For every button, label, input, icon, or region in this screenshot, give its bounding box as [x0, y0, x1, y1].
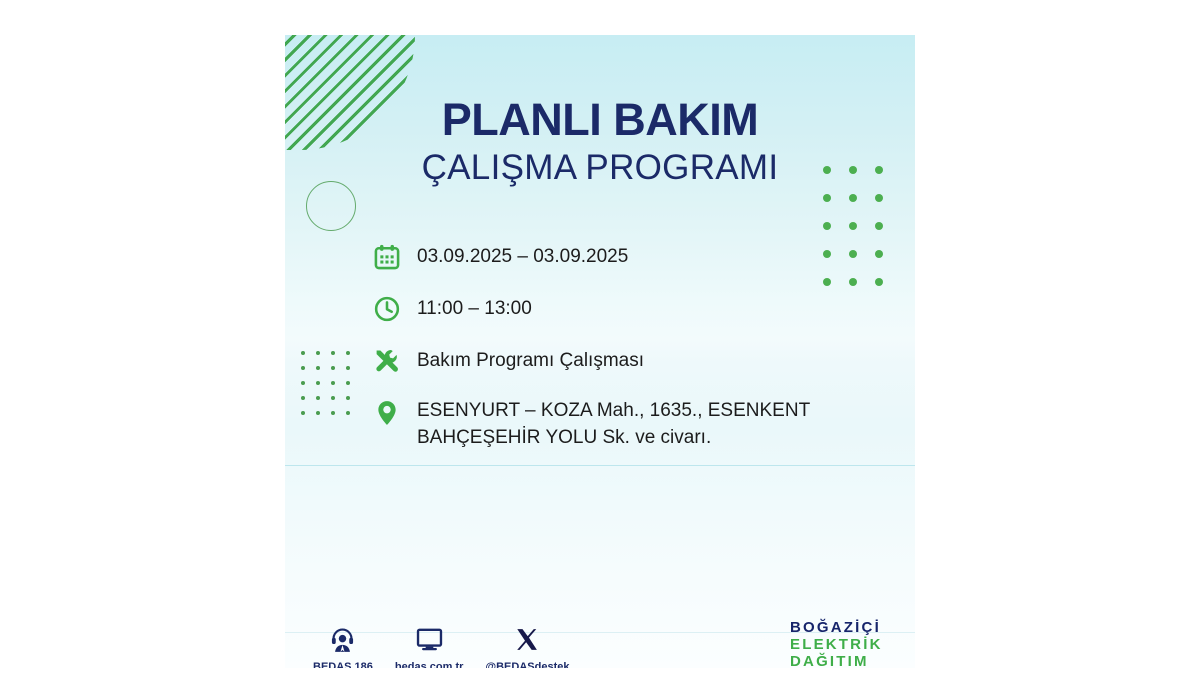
dot	[331, 381, 335, 385]
contact-website[interactable]: bedas.com.tr	[395, 623, 463, 668]
headset-support-icon	[329, 623, 356, 655]
dot	[346, 381, 350, 385]
dot	[331, 411, 335, 415]
dot	[316, 411, 320, 415]
detail-row-address: ESENYURT – KOZA Mah., 1635., ESENKENT BA…	[373, 396, 903, 452]
dot	[346, 396, 350, 400]
outage-details-list: 03.09.2025 – 03.09.2025 11:00 – 13:00 Ba…	[373, 240, 903, 470]
dot-grid-decoration-left	[301, 351, 361, 426]
dot	[346, 366, 350, 370]
detail-row-time: 11:00 – 13:00	[373, 292, 903, 326]
dot	[301, 351, 305, 355]
logo-line-bogazici: BOĞAZİÇİ	[790, 620, 910, 637]
title-main: PLANLI BAKIM	[285, 97, 915, 142]
dot	[331, 396, 335, 400]
work-type-value: Bakım Programı Çalışması	[417, 344, 644, 375]
x-social-icon	[515, 623, 540, 655]
contact-website-label: bedas.com.tr	[395, 661, 463, 668]
dot	[875, 194, 883, 202]
dot	[301, 396, 305, 400]
detail-row-date: 03.09.2025 – 03.09.2025	[373, 240, 903, 274]
contact-phone-label: BEDAŞ 186	[313, 661, 373, 668]
contact-social[interactable]: @BEDASdestek	[485, 623, 569, 668]
circle-outline-decoration	[306, 181, 356, 231]
bedas-logo: BOĞAZİÇİ ELEKTRİK DAĞITIM "enerjimizle y…	[790, 620, 910, 668]
dot	[316, 396, 320, 400]
dot	[346, 411, 350, 415]
title-sub: ÇALIŞMA PROGRAMI	[285, 148, 915, 188]
time-range-value: 11:00 – 13:00	[417, 292, 532, 323]
location-pin-icon	[373, 396, 407, 430]
dot	[301, 381, 305, 385]
contact-phone[interactable]: BEDAŞ 186	[313, 623, 373, 668]
dot	[301, 366, 305, 370]
contact-social-label: @BEDASdestek	[485, 661, 569, 668]
address-value: ESENYURT – KOZA Mah., 1635., ESENKENT BA…	[417, 396, 903, 452]
dot	[316, 351, 320, 355]
dot	[849, 194, 857, 202]
dot	[849, 222, 857, 230]
page-title: PLANLI BAKIM ÇALIŞMA PROGRAMI	[285, 97, 915, 188]
dot	[331, 351, 335, 355]
dot	[823, 222, 831, 230]
dot	[875, 222, 883, 230]
dot	[346, 351, 350, 355]
monitor-icon	[416, 623, 443, 655]
dot	[823, 194, 831, 202]
footer-contacts: BEDAŞ 186 bedas.com.tr @BEDASdestek	[313, 623, 591, 668]
logo-line-elektrik: ELEKTRİK	[790, 637, 910, 654]
detail-row-worktype: Bakım Programı Çalışması	[373, 344, 903, 378]
dot	[331, 366, 335, 370]
announcement-card: PLANLI BAKIM ÇALIŞMA PROGRAMI 03.09.2025…	[285, 35, 915, 668]
dot	[316, 366, 320, 370]
tools-icon	[373, 344, 407, 378]
logo-line-dagitim: DAĞITIM	[790, 654, 910, 668]
clock-icon	[373, 292, 407, 326]
dot	[301, 411, 305, 415]
calendar-icon	[373, 240, 407, 274]
date-range-value: 03.09.2025 – 03.09.2025	[417, 240, 628, 271]
dot	[316, 381, 320, 385]
